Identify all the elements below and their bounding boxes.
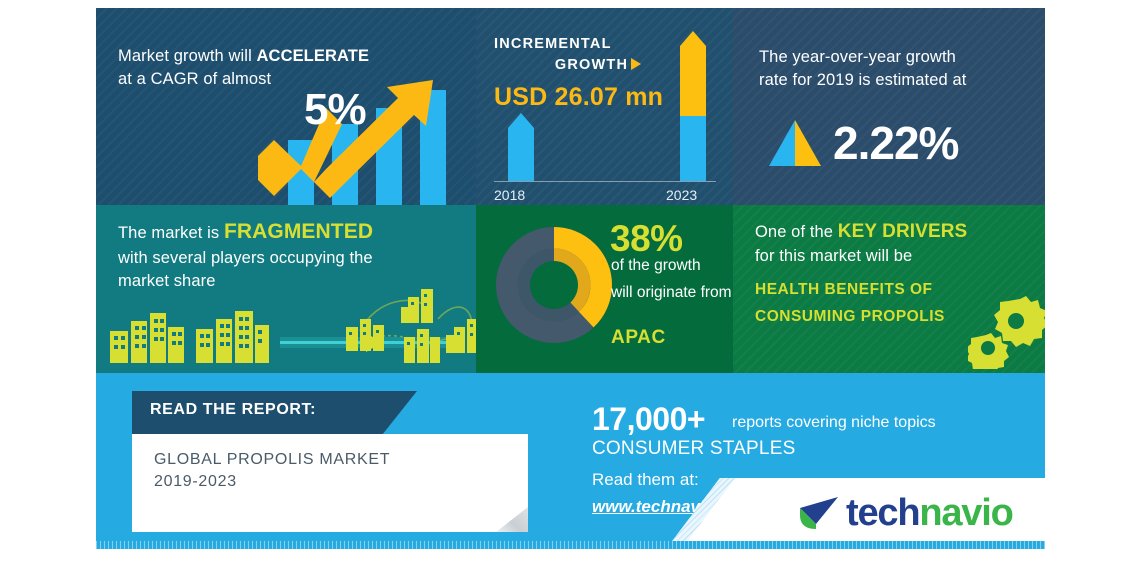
logo-navio: navio [919,492,1012,534]
reports-caption: reports covering niche topics [732,414,936,432]
technavio-arrow-icon [796,493,840,533]
fragmented-lead-bold: FRAGMENTED [224,220,373,243]
apac-text-line1: of the growth [611,257,701,274]
segment-label: CONSUMER STAPLES [592,438,795,460]
incremental-year-2023: 2023 [666,186,697,205]
incremental-axis-line [494,181,716,182]
drivers-lead-pre: One of the [755,223,838,241]
infographic-canvas: Market growth will ACCELERATE at a CAGR … [0,0,1140,570]
fragmented-lead-line2: with several players occupying the [118,249,373,267]
panel-incremental-growth: INCREMENTAL GROWTH USD 26.07 mn 2018 202… [476,8,733,205]
panel-yoy-growth: The year-over-year growth rate for 2019 … [733,8,1045,205]
yoy-lead-text: The year-over-year growth rate for 2019 … [759,46,1027,92]
drivers-lead-bold: KEY DRIVERS [838,221,968,242]
panel-fragmented-market: The market is FRAGMENTED with several pl… [96,205,476,373]
technavio-wordmark: technavio [846,494,1013,532]
gears-icon [968,291,1045,369]
reports-count: 17,000+ [592,401,705,438]
footer-stripe-band [96,541,1045,549]
panel-footer-cta: READ THE REPORT: GLOBAL PROPOLIS MARKET … [96,373,1045,549]
logo-tech: tech [846,492,919,534]
growth-triangle-icon [767,118,829,168]
fragmented-network-illustration [346,275,476,370]
apac-text-line2: will originate from [611,284,732,301]
panel-apac-growth: 38% of the growth will originate from AP… [476,205,733,373]
incremental-arrow-bars [494,28,724,188]
technavio-logo[interactable]: technavio [796,493,1013,533]
drivers-lead-line2: for this market will be [755,247,912,265]
read-the-report-label: READ THE REPORT: [150,401,316,419]
report-title-line1: GLOBAL PROPOLIS MARKET [154,451,390,469]
accelerate-lead-pre: Market growth will [118,47,257,65]
yoy-value: 2.22% [833,112,958,175]
incremental-year-2018: 2018 [494,186,525,205]
report-title-line2: 2019-2023 [154,473,237,491]
fragmented-lead-line3: market share [118,272,216,290]
apac-description: of the growth will originate from [611,253,733,306]
read-them-at-label: Read them at: [592,470,699,490]
accelerate-lead-post: at a CAGR of almost [118,70,271,88]
panel-key-drivers: One of the KEY DRIVERS for this market w… [733,205,1045,373]
fragmented-lead-pre: The market is [118,224,224,242]
apac-region-label: APAC [611,325,666,351]
accelerate-lead-bold: ACCELERATE [257,47,370,65]
apac-donut-chart [490,221,618,349]
yoy-lead-line1: The year-over-year growth [759,48,956,66]
panel-market-growth: Market growth will ACCELERATE at a CAGR … [96,8,476,205]
yoy-lead-line2: rate for 2019 is estimated at [759,71,966,89]
cagr-value: 5% [304,80,366,141]
accelerate-lead-text: Market growth will ACCELERATE at a CAGR … [118,45,418,91]
